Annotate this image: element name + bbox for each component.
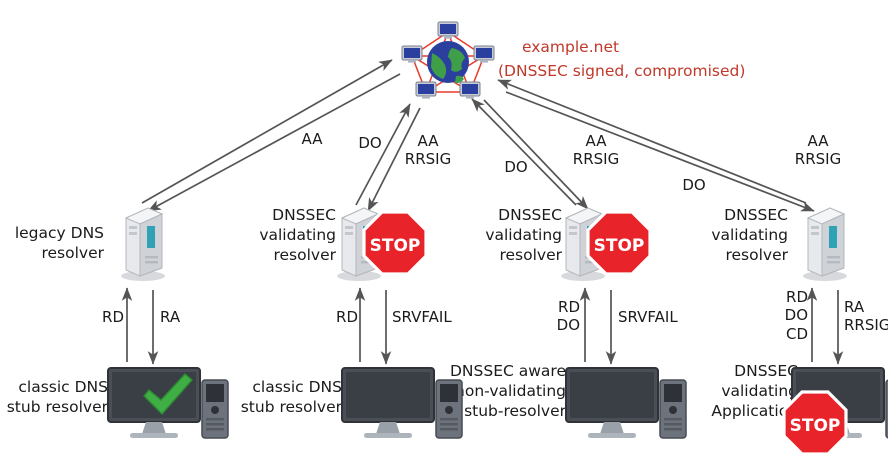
edge-label-aarrsig-2: AA RRSIG	[400, 132, 456, 169]
stop-badge-stub-4: STOP	[782, 390, 848, 456]
edge-r4-down	[506, 92, 814, 211]
stop-sign-icon: STOP	[782, 390, 848, 456]
stub-response-label-4: RA RRSIG	[844, 298, 888, 335]
green-check-icon	[140, 372, 196, 418]
stub-label-4: DNSSEC validating Application	[682, 362, 798, 421]
dns-dnssec-flow-diagram: example.net (DNSSEC signed, compromised)…	[0, 0, 888, 443]
authoritative-nameserver-cloud-icon	[396, 20, 500, 104]
zone-subtitle: (DNSSEC signed, compromised)	[498, 62, 838, 82]
desktop-computer-icon	[340, 366, 468, 442]
stop-sign-text: STOP	[594, 236, 645, 256]
stub-response-label-1: RA	[160, 308, 200, 326]
status-ok-badge-stub-1	[140, 372, 196, 418]
resolver-node-4[interactable]	[800, 204, 850, 282]
stop-sign-icon: STOP	[362, 210, 428, 276]
stub-node-3[interactable]	[564, 366, 692, 442]
stop-sign-icon: STOP	[586, 210, 652, 276]
stub-query-label-1: RD	[92, 308, 124, 326]
zone-title: example.net	[522, 38, 822, 58]
edge-r1-up	[142, 60, 392, 203]
resolver-label-3: DNSSEC validating resolver	[452, 206, 562, 265]
edge-r3-up	[472, 99, 576, 205]
stop-badge-resolver-3: STOP	[586, 210, 652, 276]
resolver-label-2: DNSSEC validating resolver	[228, 206, 336, 265]
edge-r4-up	[498, 80, 806, 203]
stub-query-label-2: RD	[326, 308, 358, 326]
edge-label-aarrsig-4: AA RRSIG	[790, 132, 846, 169]
edge-label-aarrsig-3: AA RRSIG	[568, 132, 624, 169]
stop-sign-text: STOP	[370, 236, 421, 256]
stub-query-label-4: RD DO CD	[776, 288, 808, 343]
stop-badge-resolver-2: STOP	[362, 210, 428, 276]
stop-sign-text: STOP	[790, 416, 841, 436]
resolver-node-1[interactable]	[118, 204, 168, 282]
edge-label-do-4: DO	[676, 176, 712, 194]
server-tower-icon	[118, 204, 168, 282]
resolver-label-4: DNSSEC validating resolver	[676, 206, 788, 265]
server-tower-icon	[800, 204, 850, 282]
stub-node-2[interactable]	[340, 366, 468, 442]
edge-label-do-2: DO	[352, 134, 388, 152]
stub-label-2: classic DNS stub resolver	[230, 378, 342, 418]
desktop-computer-icon	[564, 366, 692, 442]
edge-label-aa-1: AA	[292, 130, 332, 148]
stub-label-1: classic DNS stub resolver	[0, 378, 108, 418]
stub-response-label-3: SRVFAIL	[618, 308, 696, 326]
edge-label-do-3: DO	[498, 158, 534, 176]
resolver-label-1: legacy DNS resolver	[0, 224, 104, 264]
stub-query-label-3: RD DO	[548, 298, 580, 335]
authoritative-server-node[interactable]	[396, 20, 500, 104]
stub-response-label-2: SRVFAIL	[392, 308, 470, 326]
